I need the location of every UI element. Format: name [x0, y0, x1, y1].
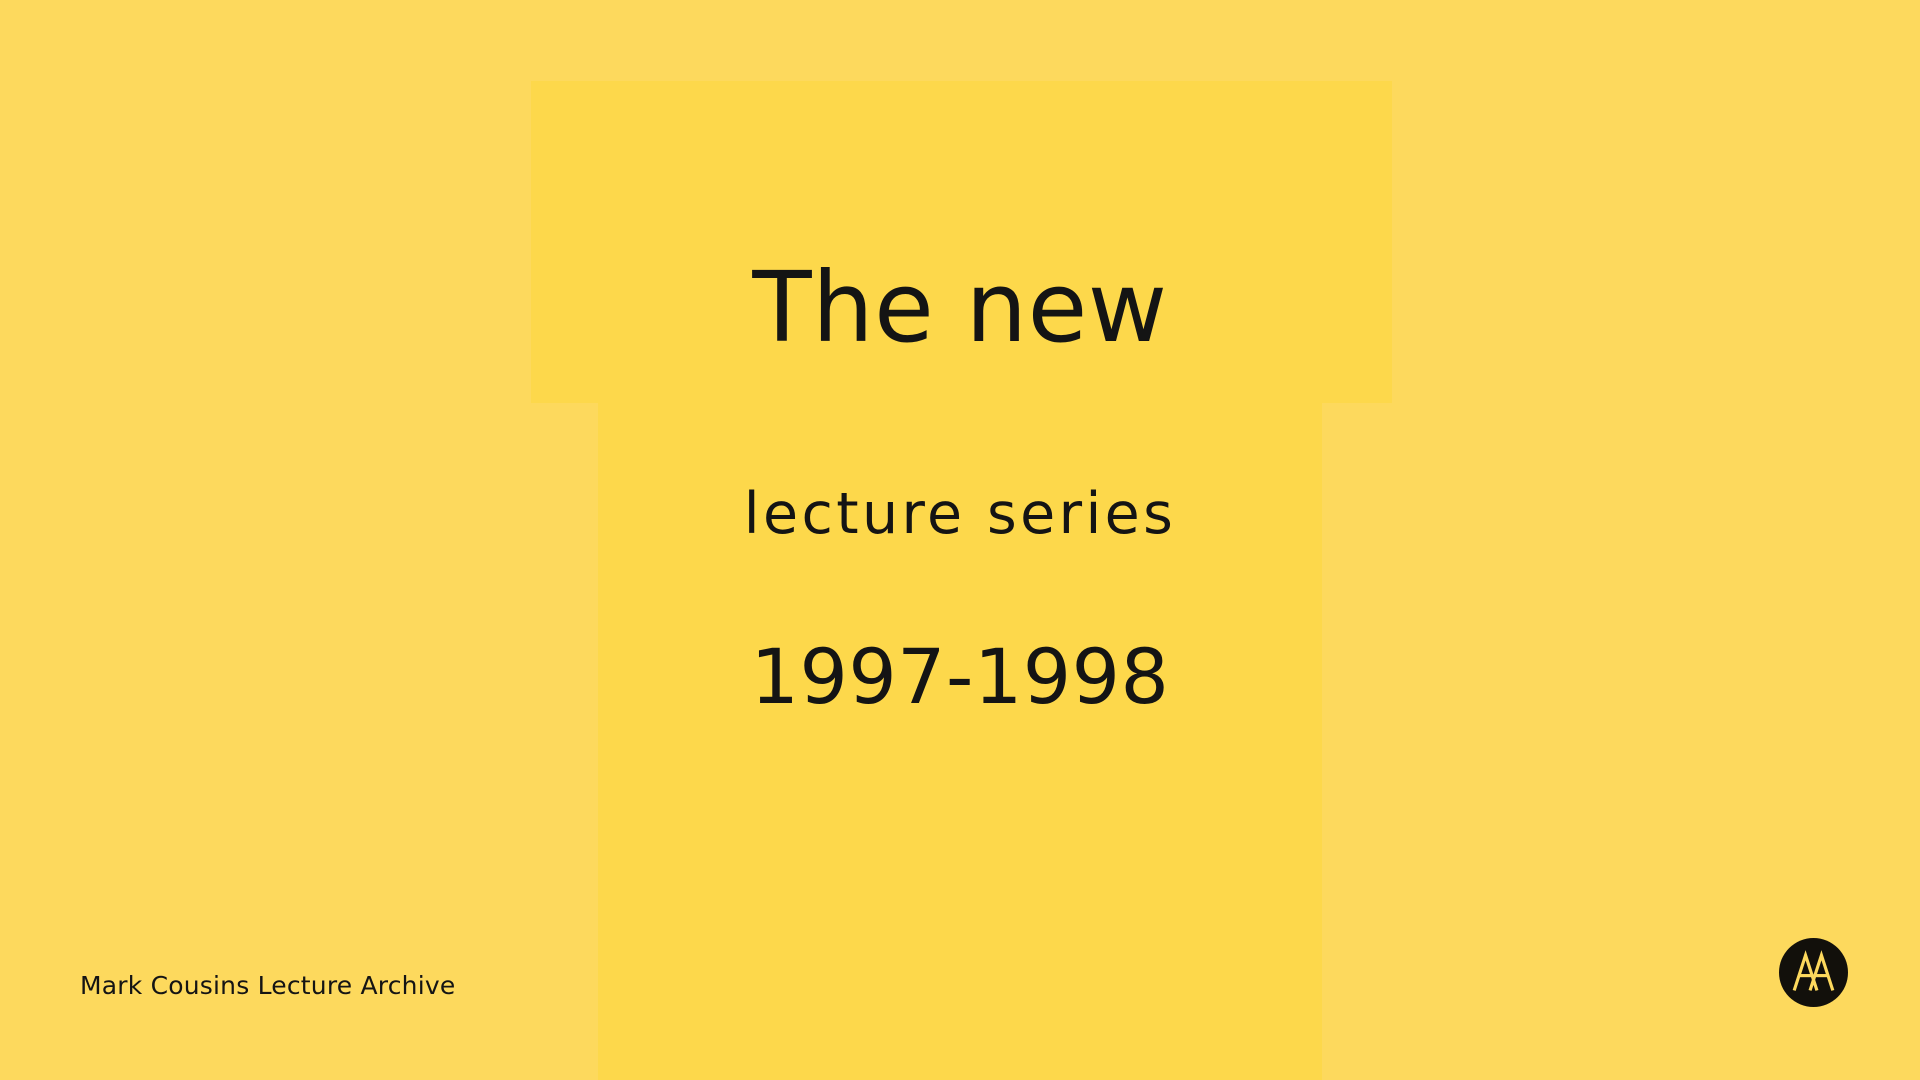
aa-logo-circle — [1779, 938, 1848, 1007]
aa-logo — [1779, 938, 1848, 1007]
slide-subhead: lecture series — [0, 485, 1920, 544]
slide-headline: The new — [0, 258, 1920, 359]
archive-caption: Mark Cousins Lecture Archive — [80, 971, 455, 1001]
title-slide: The new lecture series 1997-1998 Mark Co… — [0, 0, 1920, 1080]
aa-logo-icon — [1779, 938, 1848, 1007]
slide-year-range: 1997-1998 — [0, 637, 1920, 716]
